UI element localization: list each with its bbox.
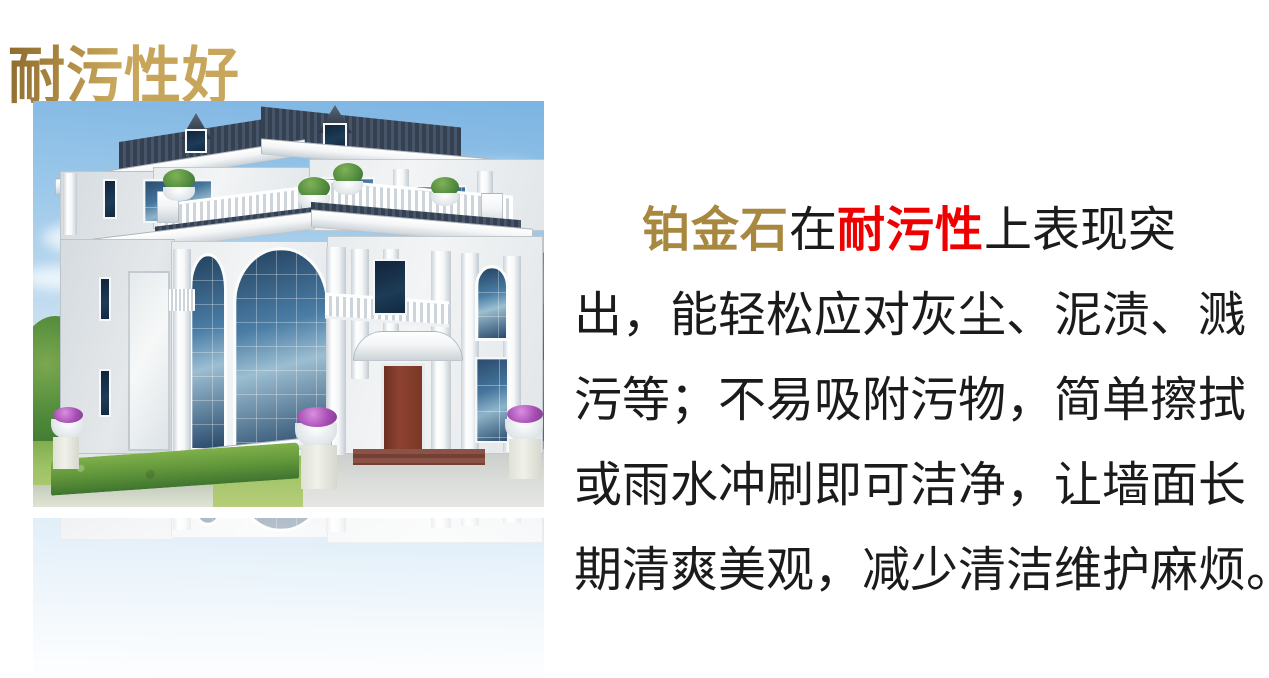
copy-text: 出，能轻松应对灰尘、泥渍、溅 xyxy=(574,289,1246,342)
copy-text: 污等；不易吸附污物，简单擦拭 xyxy=(574,374,1246,427)
entry-steps xyxy=(353,449,485,465)
copy-text: 期清爽美观，减少清洁维护麻烦。 xyxy=(574,544,1269,597)
carved-relief-panel xyxy=(128,271,170,451)
pedestal xyxy=(53,437,79,469)
window xyxy=(103,179,117,219)
villa-scene xyxy=(33,101,544,507)
copy-line-3: 污等；不易吸附污物，简单擦拭 xyxy=(574,358,1246,443)
balcony-door xyxy=(373,259,407,315)
arched-window xyxy=(475,265,509,341)
copy-text: 在 xyxy=(789,204,837,257)
copy-line-1: 铂金石在耐污性上表现突 xyxy=(574,188,1246,273)
copy-line-2: 出，能轻松应对灰尘、泥渍、溅 xyxy=(574,273,1246,358)
copy-text: 或雨水冲刷即可洁净，让墙面长 xyxy=(574,459,1246,512)
pedestal xyxy=(509,439,541,479)
pilaster-capital xyxy=(169,289,195,311)
window xyxy=(99,369,111,417)
arched-window xyxy=(189,253,227,451)
pilaster xyxy=(173,249,191,455)
reflection-fade-overlay xyxy=(33,518,544,678)
villa-image-reflection xyxy=(33,518,544,678)
copy-line-4: 或雨水冲刷即可洁净，让墙面长 xyxy=(574,443,1246,528)
villa-image xyxy=(33,101,544,507)
window xyxy=(99,277,111,321)
entry-arch xyxy=(353,331,463,361)
flowers xyxy=(53,407,83,423)
column xyxy=(63,173,77,235)
window xyxy=(475,357,509,443)
copy-line-5: 期清爽美观，减少清洁维护麻烦。 xyxy=(574,528,1246,613)
pedestal xyxy=(301,445,337,489)
flowers xyxy=(297,407,337,427)
brand-name: 铂金石 xyxy=(642,204,789,257)
body-copy: 铂金石在耐污性上表现突 出，能轻松应对灰尘、泥渍、溅 污等；不易吸附污物，简单擦… xyxy=(574,188,1246,613)
copy-text: 上表现突 xyxy=(984,204,1176,257)
flowers xyxy=(507,405,543,423)
front-door xyxy=(381,363,425,455)
highlight-stain-resistance: 耐污性 xyxy=(837,204,984,257)
dormer-window xyxy=(185,129,207,153)
